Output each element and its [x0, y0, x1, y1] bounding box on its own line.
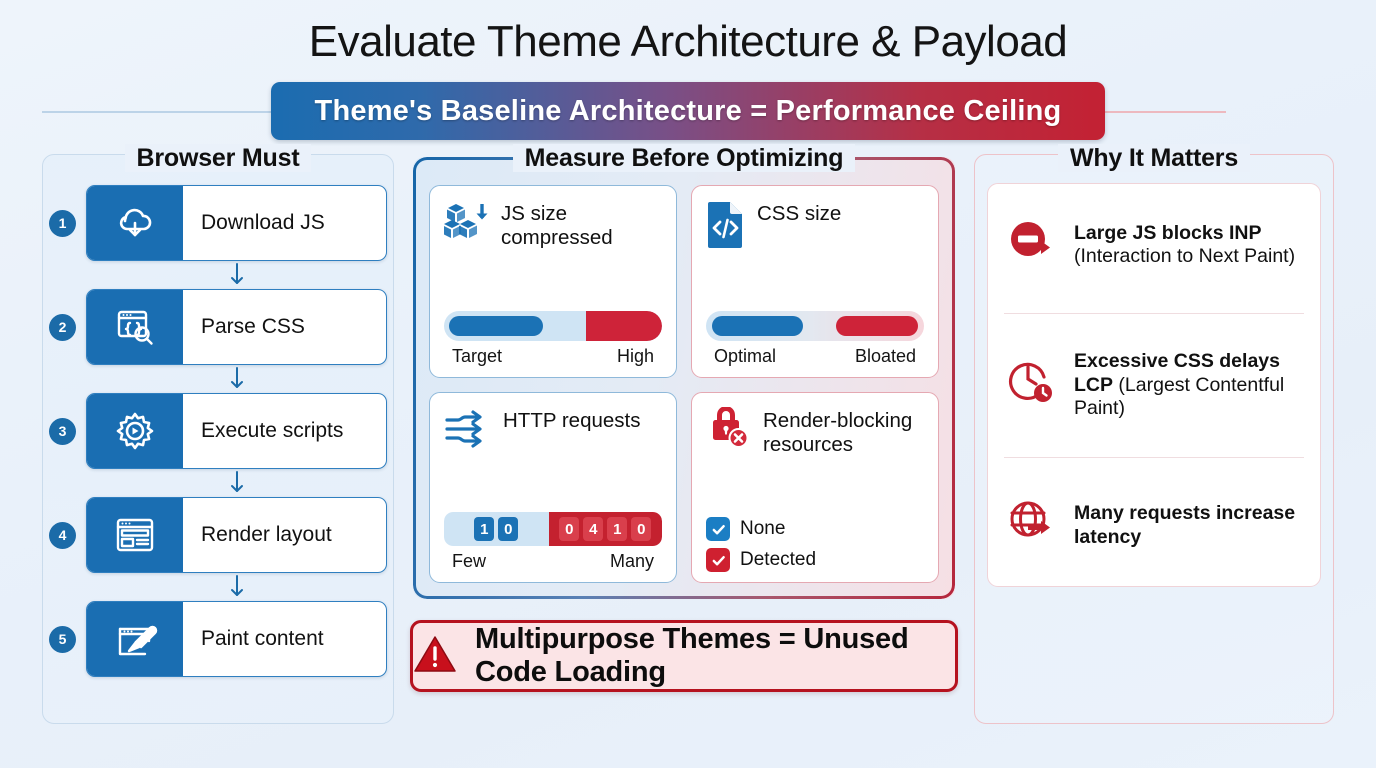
bar-labels-js-size: Target High: [444, 341, 662, 367]
step-label-3: Execute scripts: [183, 394, 386, 468]
bar-css-size: [706, 311, 924, 341]
browser-must-panel: Browser Must 1 Download JS: [42, 154, 394, 724]
bar-label-css-left: Optimal: [714, 346, 776, 367]
step-arrow-2: [86, 365, 387, 393]
step-label-4: Render layout: [183, 498, 386, 572]
http-few-segment: 1 0: [444, 512, 549, 546]
metric-card-css-size[interactable]: CSS size Optimal Bloated: [691, 185, 939, 378]
bar-label-js-left: Target: [452, 346, 502, 367]
check-row-none[interactable]: None: [706, 517, 924, 541]
http-digit-few-2: 0: [498, 517, 518, 541]
checkbox-none-icon[interactable]: [706, 517, 730, 541]
why-divider-1: [1004, 313, 1304, 314]
rule-right-divider: [1104, 111, 1226, 113]
step-card-download-js[interactable]: Download JS: [86, 185, 387, 261]
step-row-1[interactable]: 1 Download JS: [49, 185, 387, 261]
why-text-inp-bold: Large JS blocks INP: [1074, 222, 1262, 244]
headline-banner: Theme's Baseline Architecture = Performa…: [271, 82, 1105, 140]
step-card-parse-css[interactable]: Parse CSS: [86, 289, 387, 365]
metric-grid: JS size compressed Target High: [429, 185, 939, 583]
lock-error-icon: [706, 407, 752, 458]
bar-css-optimal-pill: [712, 316, 803, 336]
why-divider-2: [1004, 457, 1304, 458]
step-card-execute-scripts[interactable]: Execute scripts: [86, 393, 387, 469]
browser-must-title: Browser Must: [42, 144, 394, 173]
metric-title-render-blocking: Render-blocking resources: [763, 407, 924, 457]
http-digit-many-2: 4: [583, 517, 603, 541]
bar-label-http-right: Many: [610, 551, 654, 572]
check-label-none: None: [740, 518, 785, 540]
metric-title-js-size: JS size compressed: [501, 200, 662, 250]
http-many-segment: 0 4 1 0: [549, 512, 662, 546]
metric-title-css-size: CSS size: [757, 200, 841, 226]
check-label-detected: Detected: [740, 549, 816, 571]
step-number-5: 5: [49, 626, 76, 653]
why-it-matters-body: Large JS blocks INP (Interaction to Next…: [974, 154, 1334, 724]
why-it-matters-card: Large JS blocks INP (Interaction to Next…: [987, 183, 1321, 587]
why-item-latency[interactable]: Many requests increase latency: [1004, 487, 1304, 564]
arrows-flow-icon: [444, 407, 492, 456]
why-it-matters-title: Why It Matters: [974, 144, 1334, 173]
bar-css-bloated-pill: [836, 316, 918, 336]
measure-panel-body: JS size compressed Target High: [410, 154, 958, 602]
columns-container: Browser Must 1 Download JS: [0, 144, 1376, 724]
warning-triangle-icon: [413, 634, 457, 679]
code-file-icon: [706, 200, 746, 255]
measure-panel-wrap: Measure Before Optimizing: [410, 154, 958, 602]
step-row-5[interactable]: 5 Paint content: [49, 601, 387, 677]
browser-must-title-text: Browser Must: [125, 144, 312, 172]
bar-js-high-fill: [586, 311, 662, 341]
step-row-4[interactable]: 4 Render layo: [49, 497, 387, 573]
why-item-lcp[interactable]: Excessive CSS delays LCP (Largest Conten…: [1004, 342, 1304, 428]
step-arrow-1: [86, 261, 387, 289]
globe-arrow-icon: [1004, 495, 1060, 556]
http-digit-few-1: 1: [474, 517, 494, 541]
step-number-3: 3: [49, 418, 76, 445]
bar-http-requests: 1 0 0 4 1 0: [444, 512, 662, 546]
why-text-latency: Many requests increase latency: [1074, 502, 1304, 549]
step-number-4: 4: [49, 522, 76, 549]
cloud-download-icon: [87, 186, 183, 260]
metric-card-js-size[interactable]: JS size compressed Target High: [429, 185, 677, 378]
headline-banner-text: Theme's Baseline Architecture = Performa…: [315, 95, 1062, 128]
step-number-1: 1: [49, 210, 76, 237]
step-label-1: Download JS: [183, 186, 386, 260]
clock-delay-icon: [1004, 355, 1060, 416]
step-card-paint-content[interactable]: Paint content: [86, 601, 387, 677]
rule-left-divider: [42, 111, 274, 113]
bar-label-http-left: Few: [452, 551, 486, 572]
paintbrush-icon: [87, 602, 183, 676]
bar-labels-http-requests: Few Many: [444, 546, 662, 572]
why-it-matters-panel: Why It Matters Large JS blocks INP (Inte…: [974, 154, 1334, 724]
warning-banner-text: Multipurpose Themes = Unused Code Loadin…: [475, 623, 955, 689]
metric-head-render-blocking: Render-blocking resources: [706, 407, 924, 510]
why-text-lcp: Excessive CSS delays LCP (Largest Conten…: [1074, 350, 1304, 420]
metric-card-http-requests[interactable]: HTTP requests 1 0 0 4 1 0: [429, 392, 677, 583]
measure-panel: Measure Before Optimizing: [410, 154, 958, 724]
bar-js-target-fill: [449, 316, 543, 336]
http-digit-many-4: 0: [631, 517, 651, 541]
warning-banner: Multipurpose Themes = Unused Code Loadin…: [410, 620, 958, 692]
checkbox-detected-icon[interactable]: [706, 548, 730, 572]
step-arrow-4: [86, 573, 387, 601]
code-inspect-icon: [87, 290, 183, 364]
why-text-latency-bold: Many requests increase latency: [1074, 502, 1295, 547]
banner-row: Theme's Baseline Architecture = Performa…: [0, 78, 1376, 144]
gear-play-icon: [87, 394, 183, 468]
metric-title-http-requests: HTTP requests: [503, 407, 640, 433]
step-label-2: Parse CSS: [183, 290, 386, 364]
bar-js-size: [444, 311, 662, 341]
http-digit-many-3: 1: [607, 517, 627, 541]
bar-label-css-right: Bloated: [855, 346, 916, 367]
step-number-2: 2: [49, 314, 76, 341]
step-arrow-3: [86, 469, 387, 497]
check-row-detected[interactable]: Detected: [706, 548, 924, 572]
page-title: Evaluate Theme Architecture & Payload: [0, 0, 1376, 66]
package-download-icon: [444, 200, 490, 249]
measure-panel-title-text: Measure Before Optimizing: [513, 144, 856, 172]
why-item-inp[interactable]: Large JS blocks INP (Interaction to Next…: [1004, 207, 1304, 284]
metric-head-http-requests: HTTP requests: [444, 407, 662, 506]
no-entry-arrow-icon: [1004, 215, 1060, 276]
metric-card-render-blocking[interactable]: Render-blocking resources None: [691, 392, 939, 583]
step-label-5: Paint content: [183, 602, 386, 676]
why-text-inp: Large JS blocks INP (Interaction to Next…: [1074, 222, 1304, 269]
layout-icon: [87, 498, 183, 572]
why-it-matters-title-text: Why It Matters: [1058, 144, 1250, 172]
bar-labels-css-size: Optimal Bloated: [706, 341, 924, 367]
metric-head-js-size: JS size compressed: [444, 200, 662, 305]
browser-must-body: 1 Download JS 2: [42, 154, 394, 724]
http-digit-many-1: 0: [559, 517, 579, 541]
measure-panel-title: Measure Before Optimizing: [410, 144, 958, 173]
step-row-2[interactable]: 2 Parse CSS: [49, 289, 387, 365]
step-row-3[interactable]: 3 Execute scripts: [49, 393, 387, 469]
step-card-render-layout[interactable]: Render layout: [86, 497, 387, 573]
metric-head-css-size: CSS size: [706, 200, 924, 305]
bar-label-js-right: High: [617, 346, 654, 367]
why-text-inp-rest: (Interaction to Next Paint): [1074, 245, 1295, 267]
